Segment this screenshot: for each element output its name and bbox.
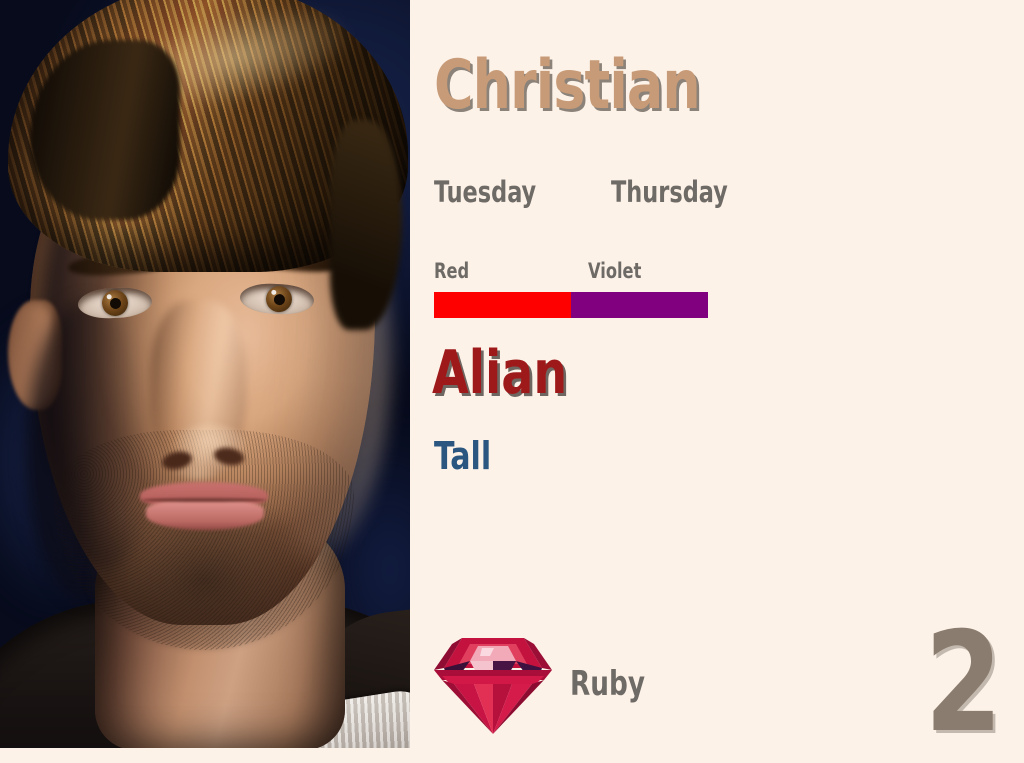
card-number: 2 — [924, 614, 1002, 752]
portrait-photo — [0, 0, 410, 748]
info-panel: Christian Tuesday Thursday Red Violet Al… — [410, 0, 1024, 748]
color-swatch-red — [434, 292, 571, 318]
character-card: Christian Tuesday Thursday Red Violet Al… — [0, 0, 1024, 748]
day-label-2: Thursday — [611, 178, 728, 207]
pupil-right — [274, 294, 286, 306]
color-label-1: Red — [434, 261, 469, 282]
mouth-line — [142, 498, 266, 502]
lower-lip — [146, 500, 264, 530]
days-row: Tuesday Thursday — [434, 178, 994, 212]
color-labels-row: Red Violet — [434, 261, 994, 287]
species-label: Alian — [432, 343, 567, 403]
color-bar — [434, 292, 708, 318]
ruby-gem-icon — [432, 630, 554, 738]
day-label-1: Tuesday — [434, 178, 536, 207]
color-swatch-violet — [571, 292, 708, 318]
character-name: Christian — [434, 52, 700, 120]
height-label: Tall — [434, 437, 491, 475]
gem-row: Ruby — [432, 628, 657, 740]
gem-label: Ruby — [570, 667, 645, 701]
pupil-left — [110, 298, 122, 310]
color-label-2: Violet — [588, 261, 641, 282]
